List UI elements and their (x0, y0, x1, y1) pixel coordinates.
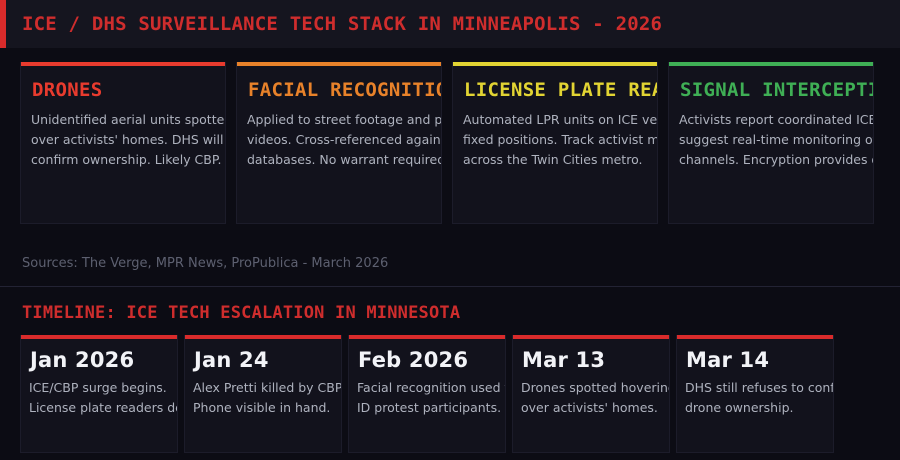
timeline-card: Jan 2026ICE/CBP surge begins.License pla… (20, 335, 178, 453)
tech-card-body-line: fixed positions. Track activist movement (463, 130, 647, 150)
timeline-card: Feb 2026Facial recognition used toID pro… (348, 335, 506, 453)
header-accent-bar (0, 0, 6, 48)
timeline-card-date: Jan 2026 (30, 348, 169, 372)
tech-card-body-line: confirm ownership. Likely CBP. (31, 150, 215, 170)
timeline-card-body-line: drone ownership. (685, 398, 825, 418)
tech-card: LICENSE PLATE READERSAutomated LPR units… (452, 62, 658, 224)
tech-card-body-line: over activists' homes. DHS will not (31, 130, 215, 150)
tech-card-body: Applied to street footage and protestvid… (247, 110, 431, 170)
timeline-card-body-line: ID protest participants. (357, 398, 497, 418)
tech-card-row: DRONESUnidentified aerial units spottedo… (0, 62, 900, 224)
timeline-heading: TIMELINE: ICE TECH ESCALATION IN MINNESO… (0, 303, 900, 323)
timeline-card-date: Jan 24 (194, 348, 333, 372)
timeline-card-body-line: Alex Pretti killed by CBP agent. (193, 378, 333, 398)
timeline-card-body-line: ICE/CBP surge begins. (29, 378, 169, 398)
tech-card-body-line: suggest real-time monitoring of comms (679, 130, 863, 150)
infographic-page: ICE / DHS SURVEILLANCE TECH STACK IN MIN… (0, 0, 900, 460)
timeline-card-accent-bar (349, 335, 505, 339)
timeline-card-row: Jan 2026ICE/CBP surge begins.License pla… (0, 335, 900, 453)
tech-card-body-line: channels. Encryption provides defense. (679, 150, 863, 170)
timeline-card: Mar 14DHS still refuses to confirmdrone … (676, 335, 834, 453)
timeline-card-date: Mar 14 (686, 348, 825, 372)
timeline-card: Mar 13Drones spotted hoveringover activi… (512, 335, 670, 453)
tech-stack-section: DRONESUnidentified aerial units spottedo… (0, 48, 900, 240)
timeline-card: Jan 24Alex Pretti killed by CBP agent.Ph… (184, 335, 342, 453)
timeline-section: TIMELINE: ICE TECH ESCALATION IN MINNESO… (0, 287, 900, 460)
tech-card-accent-bar (669, 62, 873, 66)
timeline-card-body-line: License plate readers deployed. (29, 398, 169, 418)
tech-card-body-line: Activists report coordinated ICE raids t… (679, 110, 863, 130)
tech-card-body-line: Applied to street footage and protest (247, 110, 431, 130)
tech-card-accent-bar (237, 62, 441, 66)
timeline-card-accent-bar (21, 335, 177, 339)
timeline-card-body: DHS still refuses to confirmdrone owners… (685, 378, 825, 418)
timeline-card-body-line: Phone visible in hand. (193, 398, 333, 418)
page-header: ICE / DHS SURVEILLANCE TECH STACK IN MIN… (0, 0, 900, 48)
tech-card-accent-bar (453, 62, 657, 66)
tech-card: FACIAL RECOGNITIONApplied to street foot… (236, 62, 442, 224)
tech-card-body: Activists report coordinated ICE raids t… (679, 110, 863, 170)
timeline-card-body-line: over activists' homes. (521, 398, 661, 418)
tech-card-body: Automated LPR units on ICE vehicles andf… (463, 110, 647, 170)
timeline-card-date: Feb 2026 (358, 348, 497, 372)
timeline-card-body: ICE/CBP surge begins.License plate reade… (29, 378, 169, 418)
timeline-card-body-line: DHS still refuses to confirm (685, 378, 825, 398)
tech-card-title: DRONES (32, 79, 215, 101)
timeline-card-accent-bar (513, 335, 669, 339)
timeline-card-body: Alex Pretti killed by CBP agent.Phone vi… (193, 378, 333, 418)
tech-card-title: SIGNAL INTERCEPTION (680, 79, 863, 101)
timeline-card-body: Drones spotted hoveringover activists' h… (521, 378, 661, 418)
tech-card-title: LICENSE PLATE READERS (464, 79, 647, 101)
tech-card: SIGNAL INTERCEPTIONActivists report coor… (668, 62, 874, 224)
tech-card-body-line: Automated LPR units on ICE vehicles and (463, 110, 647, 130)
sources-line: Sources: The Verge, MPR News, ProPublica… (0, 240, 900, 286)
tech-card-body-line: Unidentified aerial units spotted (31, 110, 215, 130)
timeline-card-accent-bar (677, 335, 833, 339)
timeline-card-accent-bar (185, 335, 341, 339)
tech-card-body: Unidentified aerial units spottedover ac… (31, 110, 215, 170)
page-title: ICE / DHS SURVEILLANCE TECH STACK IN MIN… (22, 13, 662, 35)
tech-card-body-line: databases. No warrant required. (247, 150, 431, 170)
tech-card-body-line: across the Twin Cities metro. (463, 150, 647, 170)
tech-card-title: FACIAL RECOGNITION (248, 79, 431, 101)
tech-card: DRONESUnidentified aerial units spottedo… (20, 62, 226, 224)
tech-card-body-line: videos. Cross-referenced against state (247, 130, 431, 150)
timeline-card-body: Facial recognition used toID protest par… (357, 378, 497, 418)
timeline-card-body-line: Drones spotted hovering (521, 378, 661, 398)
timeline-card-date: Mar 13 (522, 348, 661, 372)
timeline-card-body-line: Facial recognition used to (357, 378, 497, 398)
tech-card-accent-bar (21, 62, 225, 66)
